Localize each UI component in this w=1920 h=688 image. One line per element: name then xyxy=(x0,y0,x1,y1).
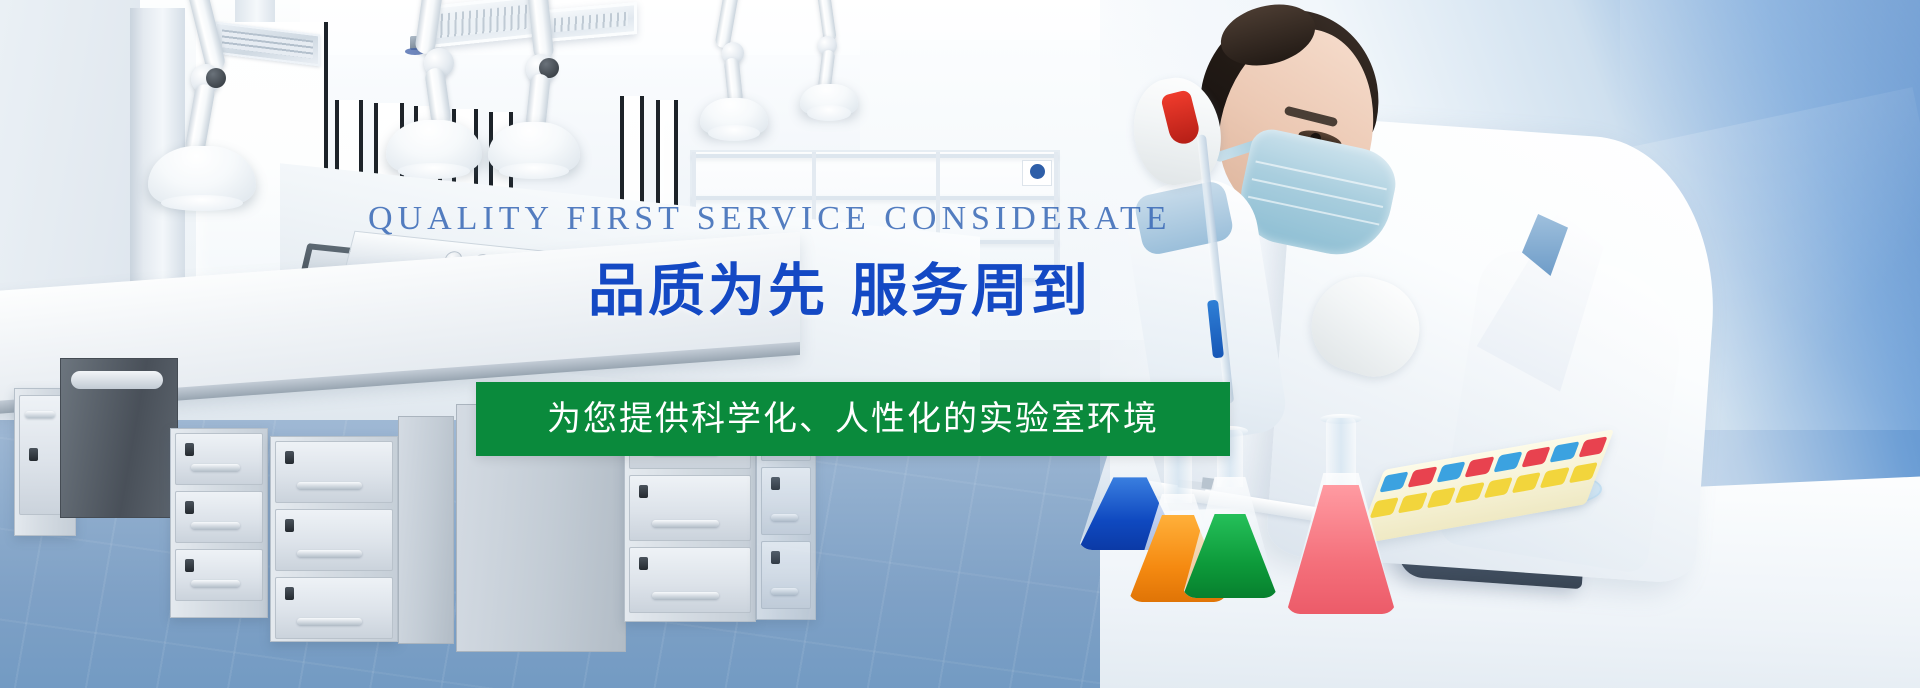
drawer-cabinet xyxy=(270,436,398,642)
drawer-cabinet xyxy=(756,386,816,620)
shelf-label xyxy=(1022,160,1052,186)
cabinet-side-panel xyxy=(398,416,454,644)
under-bench-washer xyxy=(60,358,178,518)
drawer-cabinet xyxy=(624,396,756,622)
drawer-cabinet xyxy=(170,428,268,618)
cabinet-side-panel xyxy=(456,404,626,652)
erlenmeyer-flask xyxy=(1182,430,1278,598)
hero-banner: QUALITY FIRST SERVICE CONSIDERATE 品质为先 服… xyxy=(0,0,1920,688)
erlenmeyer-flask xyxy=(1286,418,1396,614)
banner-photo xyxy=(0,0,1920,688)
